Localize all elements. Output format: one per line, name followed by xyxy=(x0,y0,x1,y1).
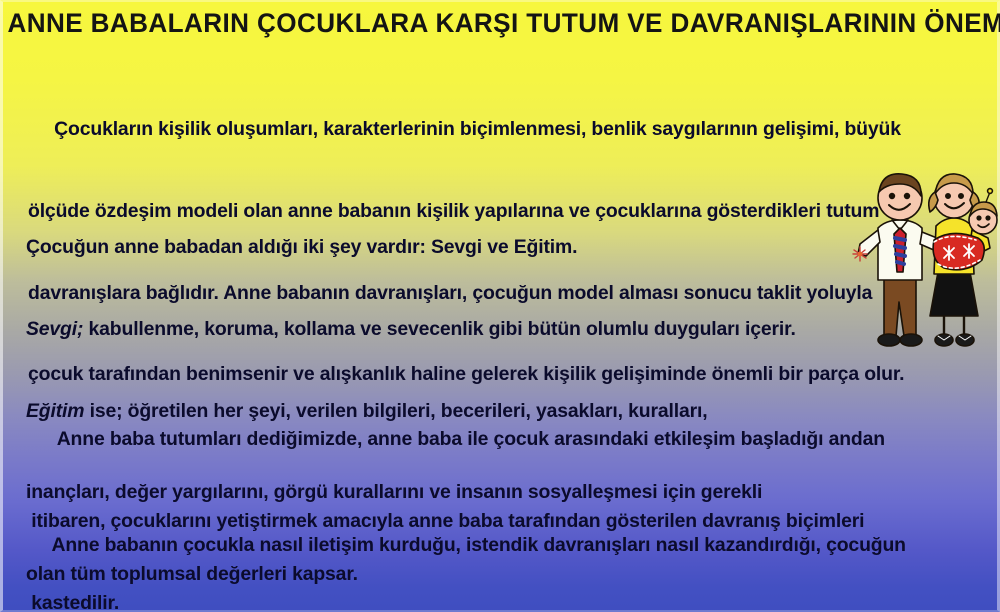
paragraph-interaction-conclusion: Anne babanın çocukla olan etkileşimi, ço… xyxy=(26,559,978,612)
baby-eye-right xyxy=(986,216,990,220)
father-eye-left xyxy=(890,194,895,199)
father-shoe-left xyxy=(878,334,900,346)
mother-skirt xyxy=(930,272,978,316)
page-title: ANNE BABALARIN ÇOCUKLARA KARŞI TUTUM VE … xyxy=(8,8,993,39)
father-trousers xyxy=(884,278,916,336)
paragraph-line: Anne baba tutumları dediğimizde, anne ba… xyxy=(26,426,974,453)
mother-eye-right xyxy=(959,194,963,198)
slide-canvas: ANNE BABALARIN ÇOCUKLARA KARŞI TUTUM VE … xyxy=(0,0,1000,612)
mother-eye-left xyxy=(946,194,950,198)
paragraph-line: Anne babanın çocukla nasıl iletişim kurd… xyxy=(26,532,978,559)
family-illustration-icon xyxy=(852,168,1000,353)
baby-hair-tie xyxy=(988,189,993,194)
baby-eye-left xyxy=(977,216,981,220)
father-shoe-right xyxy=(900,334,922,346)
paragraph-line: Çocuğun anne babadan aldığı iki şey vard… xyxy=(26,234,866,261)
paragraph-line-love: Sevgi; kabullenme, koruma, kollama ve se… xyxy=(26,316,866,343)
emphasis-sevgi: Sevgi; xyxy=(26,318,83,340)
paragraph-line: Çocukların kişilik oluşumları, karakterl… xyxy=(28,116,976,143)
father-eye-right xyxy=(905,194,910,199)
paragraph-line-love-rest: kabullenme, koruma, kollama ve sevecenli… xyxy=(83,318,795,340)
mother-shoes xyxy=(935,334,974,346)
